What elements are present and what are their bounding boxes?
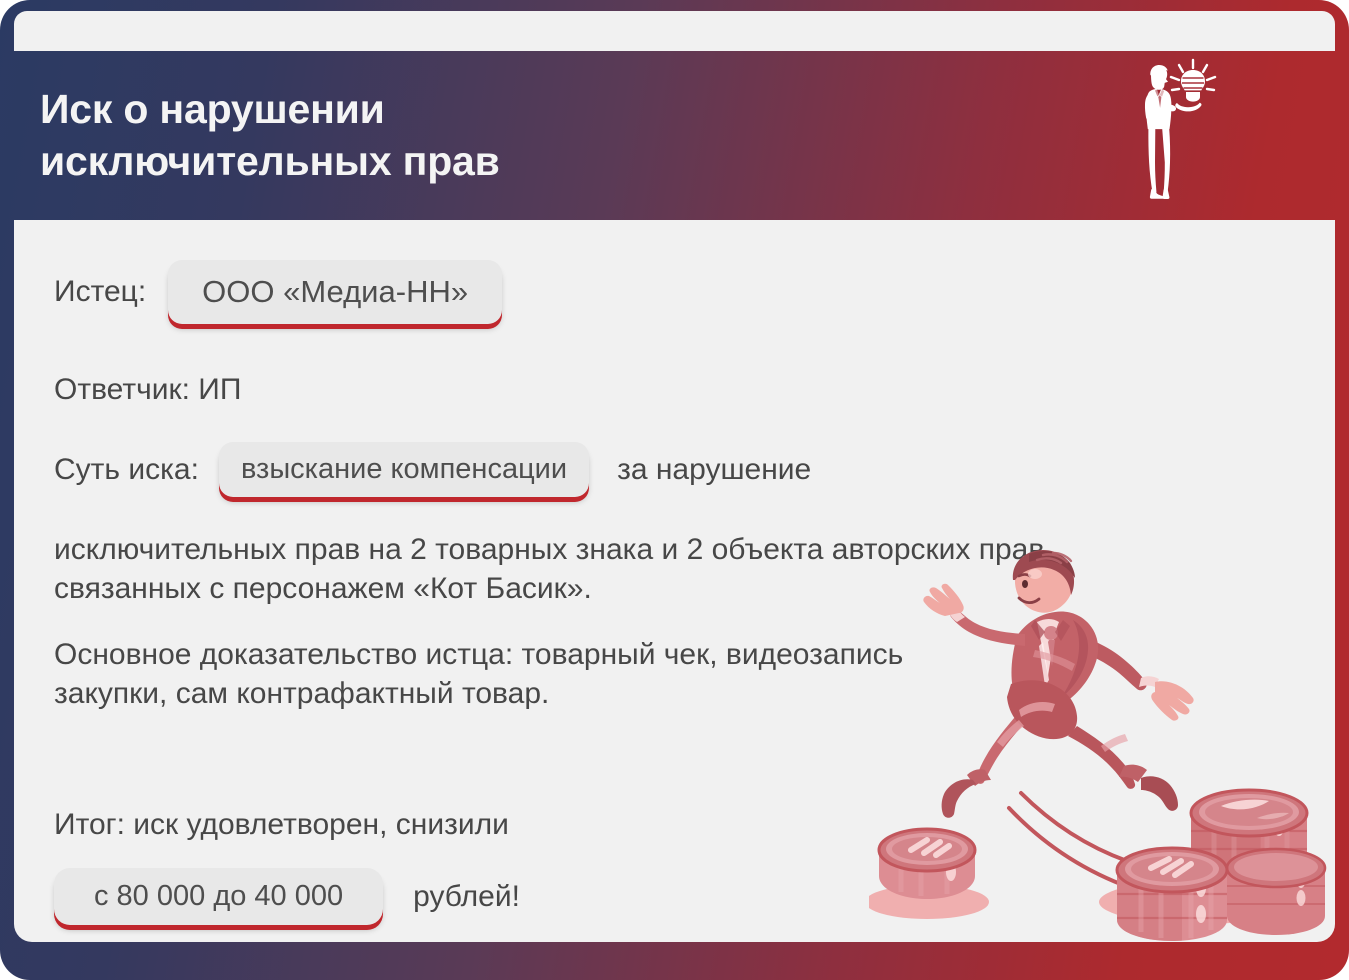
claim-badge[interactable]: взыскание компенсации	[219, 442, 589, 497]
amount-suffix-text: рублей!	[413, 880, 520, 914]
plaintiff-label: Истец:	[54, 275, 146, 309]
plaintiff-badge[interactable]: ООО «Медиа-НН»	[168, 260, 502, 324]
result-line: Итог: иск удовлетворен, снизили	[54, 805, 509, 844]
amount-badge[interactable]: с 80 000 до 40 000	[54, 868, 383, 925]
content-card: Истец: ООО «Медиа-НН» Ответчик: ИП Суть …	[14, 220, 1335, 942]
header-band: Иск о нарушении исключительных прав	[0, 51, 1349, 220]
top-edge-strip	[14, 11, 1335, 51]
plaintiff-row: Истец: ООО «Медиа-НН»	[54, 260, 502, 324]
claim-suffix-text: за нарушение	[617, 453, 811, 487]
claim-subject-row: Суть иска: взыскание компенсации за нару…	[54, 442, 811, 497]
claim-paragraph: исключительных прав на 2 товарных знака …	[54, 530, 1114, 608]
businessman-with-lightbulb-icon	[1121, 56, 1217, 206]
defendant-row: Ответчик: ИП	[54, 373, 241, 407]
defendant-label: Ответчик: ИП	[54, 373, 241, 407]
card-frame: Иск о нарушении исключительных прав	[0, 0, 1349, 980]
claim-label: Суть иска:	[54, 453, 199, 487]
businessman-jumping-over-coin-stacks-illustration	[869, 550, 1335, 942]
evidence-paragraph: Основное доказательство истца: товарный …	[54, 635, 954, 713]
page-title: Иск о нарушении исключительных прав	[40, 84, 780, 187]
amount-row: с 80 000 до 40 000 рублей!	[54, 868, 520, 925]
